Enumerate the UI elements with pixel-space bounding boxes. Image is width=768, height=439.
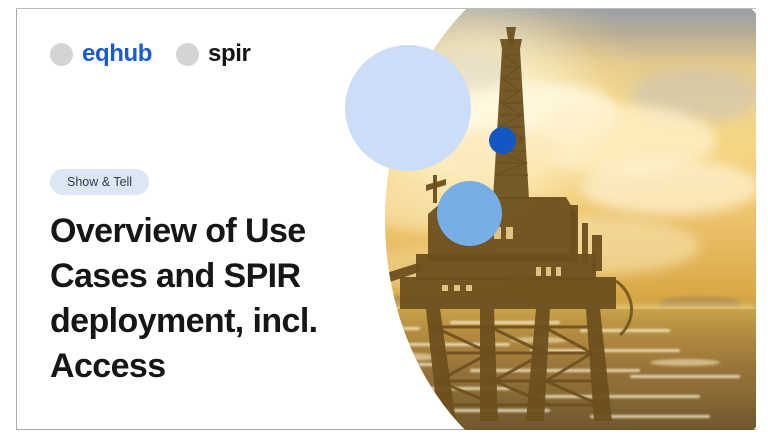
logo-spir[interactable]: spir — [176, 42, 250, 66]
brand-logo-row: eqhub spir — [50, 42, 250, 66]
circle-mark-icon — [50, 43, 73, 66]
large-pale-blue-circle — [345, 45, 471, 171]
small-dark-blue-circle — [489, 127, 516, 154]
page-title: Overview of Use Cases and SPIR deploymen… — [50, 209, 328, 389]
slide-root: eqhub spir Show & Tell Overview of Use C… — [0, 0, 768, 439]
circle-mark-icon — [176, 43, 199, 66]
status-badge: Show & Tell — [50, 169, 149, 195]
logo-spir-label: spir — [208, 42, 250, 66]
medium-blue-circle — [437, 181, 502, 246]
logo-eqhub-label: eqhub — [82, 42, 152, 66]
logo-eqhub[interactable]: eqhub — [50, 42, 152, 66]
